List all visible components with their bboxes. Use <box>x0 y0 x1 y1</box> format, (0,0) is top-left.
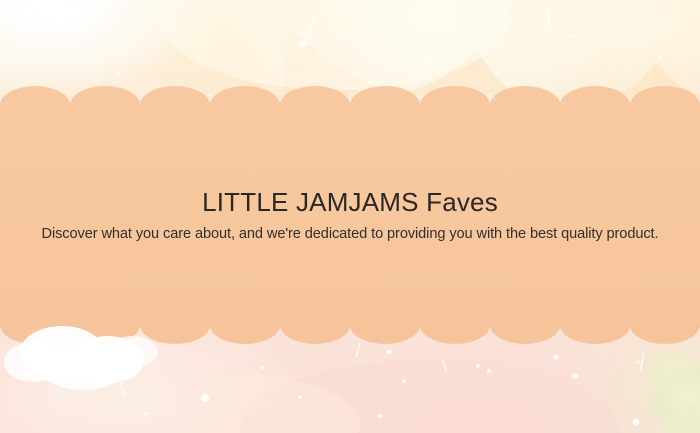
page-title: LITTLE JAMJAMS Faves <box>0 186 700 218</box>
cream-mass-top <box>160 0 510 90</box>
banner-subtitle: Discover what you care about, and we're … <box>0 224 700 244</box>
banner-text-block: LITTLE JAMJAMS Faves Discover what you c… <box>0 186 700 244</box>
cloud-cluster-bottom-right <box>646 352 700 433</box>
soft-pink-wash-bottom <box>60 360 620 433</box>
promo-banner: LITTLE JAMJAMS Faves Discover what you c… <box>0 0 700 433</box>
cloud-puff-top-left <box>0 0 126 44</box>
